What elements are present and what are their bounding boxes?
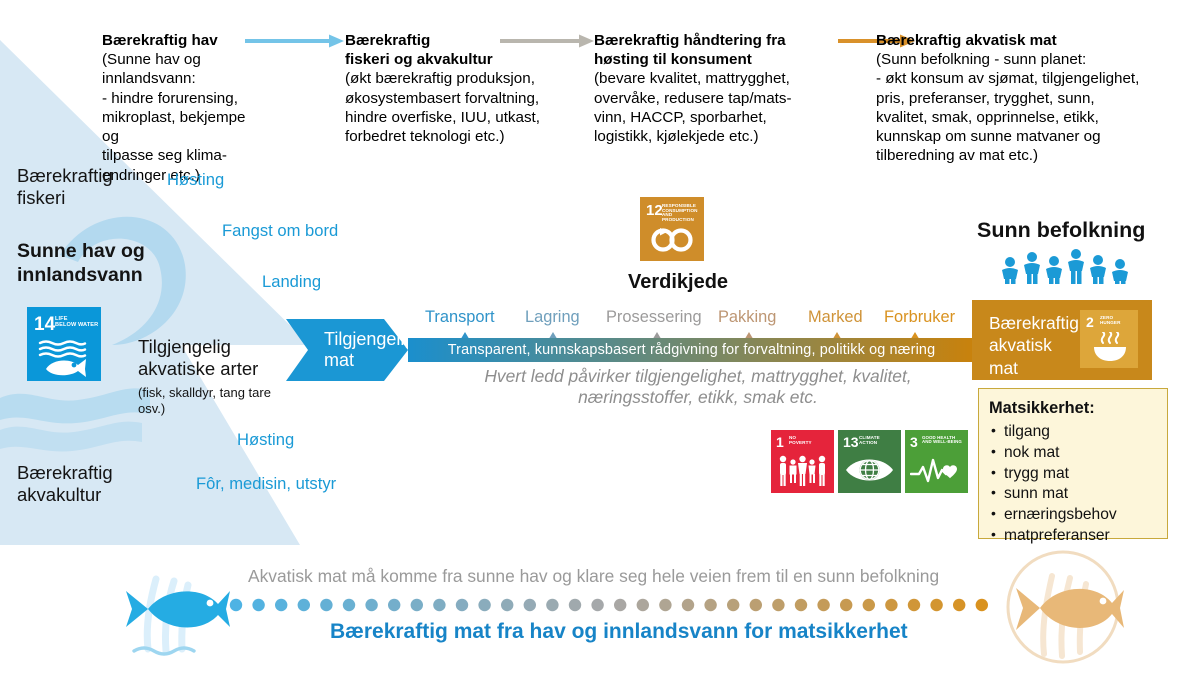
- label-hosting-top: Høsting: [167, 170, 224, 190]
- header-column-2-body: (økt bærekraftig produksjon, økosystemba…: [345, 69, 550, 146]
- sdg-1-number: 1: [776, 435, 784, 449]
- stage-label-pakking: Pakking: [718, 308, 776, 327]
- matsikkerhet-item: trygg mat: [989, 464, 1157, 485]
- matsikkerhet-item: sunn mat: [989, 484, 1157, 505]
- sdg-icon-2-zero-hunger: 2 ZERO HUNGER: [1080, 310, 1138, 368]
- header-column-3-body: (bevare kvalitet, mattrygghet, overvåke,…: [594, 69, 824, 146]
- bottom-dot-path: [228, 596, 1008, 614]
- header-column-1: Bærekraftig hav (Sunne hav og innlandsva…: [102, 31, 252, 185]
- header-column-4-title: Bærekraftig akvatisk mat: [876, 31, 1188, 50]
- sdg-icon-14-life-below-water: 14 LIFE BELOW WATER: [27, 307, 101, 381]
- sdg-2-glyph: [1090, 332, 1130, 362]
- sdg-13-caption: CLIMATE ACTION: [859, 436, 880, 445]
- sdg-13-number: 13: [843, 435, 859, 449]
- matsikkerhet-item: tilgang: [989, 422, 1157, 443]
- header-arrow-2: [500, 33, 595, 55]
- label-tilgjengelig-arter-sub: (fisk, skalldyr, tang tare osv.): [138, 385, 271, 417]
- header-column-4: Bærekraftig akvatisk mat (Sunn befolknin…: [876, 31, 1188, 166]
- people-icons: [996, 248, 1136, 284]
- value-chain-subtitle: Hvert ledd påvirker tilgjengelighet, mat…: [418, 366, 978, 409]
- matsikkerhet-title: Matsikkerhet:: [989, 399, 1157, 418]
- label-baerekraftig-fiskeri: Bærekraftig fiskeri: [17, 165, 113, 210]
- matsikkerhet-item: matpreferanser: [989, 526, 1157, 547]
- label-sunne-hav-innlandsvann: Sunne hav og innlandsvann: [17, 240, 145, 287]
- baerekraftig-akvatisk-mat-box: Bærekraftig akvatisk mat 2 ZERO HUNGER: [972, 300, 1152, 380]
- sdg-icon-12-responsible-consumption: 12 RESPONSIBLE CONSUMPTION AND PRODUCTIO…: [640, 197, 704, 261]
- header-column-3-title: Bærekraftig håndtering fra høsting til k…: [594, 31, 824, 69]
- tilgjengelig-mat-chevron: Tilgjengelig mat: [286, 319, 408, 381]
- sdg-icon-3-good-health: 3 GOOD HEALTH AND WELL-BEING: [905, 430, 968, 493]
- stage-label-prosessering: Prosessering: [606, 308, 702, 327]
- label-baerekraftig-akvakultur: Bærekraftig akvakultur: [17, 462, 113, 507]
- header-column-1-title: Bærekraftig hav: [102, 31, 252, 50]
- stage-label-marked: Marked: [808, 308, 863, 327]
- sunn-befolkning-title: Sunn befolkning: [977, 218, 1145, 243]
- header-column-1-body: (Sunne hav og innlandsvann: - hindre for…: [102, 50, 252, 185]
- label-for-medisin-utstyr: Fôr, medisin, utstyr: [196, 474, 336, 494]
- stage-label-forbruker: Forbruker: [884, 308, 955, 327]
- value-chain-bar-text: Transparent, kunnskapsbasert rådgivning …: [408, 338, 975, 362]
- sdg-14-caption: LIFE BELOW WATER: [55, 317, 98, 328]
- stage-label-transport: Transport: [425, 308, 495, 327]
- sdg-13-glyph: [844, 454, 895, 486]
- label-landing: Landing: [262, 272, 321, 292]
- matsikkerhet-list: tilgang nok mat trygg mat sunn mat ernær…: [989, 422, 1157, 547]
- sdg-icon-13-climate-action: 13 CLIMATE ACTION: [838, 430, 901, 493]
- sdg-12-glyph: [650, 225, 694, 255]
- header-column-3: Bærekraftig håndtering fra høsting til k…: [594, 31, 824, 146]
- tilgjengelig-mat-label: Tilgjengelig mat: [324, 329, 414, 371]
- gold-box-label: Bærekraftig akvatisk mat: [989, 312, 1079, 379]
- bottom-main-text: Bærekraftig mat fra hav og innlandsvann …: [330, 620, 908, 644]
- sdg-14-glyph: [36, 339, 92, 377]
- sdg-1-glyph: [777, 454, 828, 488]
- sdg-3-number: 3: [910, 435, 918, 449]
- sdg-3-caption: GOOD HEALTH AND WELL-BEING: [922, 436, 962, 445]
- label-hosting-bottom: Høsting: [237, 430, 294, 450]
- label-fangst-om-bord: Fangst om bord: [222, 221, 338, 241]
- verdikjede-heading: Verdikjede: [628, 271, 728, 294]
- sdg-3-glyph: [910, 456, 963, 486]
- label-tilgjengelig-arter-title: Tilgjengelig akvatiske arter: [138, 336, 258, 380]
- fish-icon-left: [118, 553, 238, 659]
- matsikkerhet-panel: Matsikkerhet: tilgang nok mat trygg mat …: [978, 388, 1168, 539]
- sdg-2-caption: ZERO HUNGER: [1100, 316, 1121, 325]
- sdg-2-number: 2: [1086, 315, 1094, 329]
- sdg-12-number: 12: [646, 203, 663, 218]
- header-column-4-body: (Sunn befolkning - sunn planet: - økt ko…: [876, 50, 1188, 165]
- sdg-1-caption: NO POVERTY: [789, 436, 812, 445]
- fish-icon-right: [1000, 550, 1130, 665]
- matsikkerhet-item: ernæringsbehov: [989, 505, 1157, 526]
- sdg-icon-1-no-poverty: 1 NO POVERTY: [771, 430, 834, 493]
- sdg-12-caption: RESPONSIBLE CONSUMPTION AND PRODUCTION: [662, 204, 704, 223]
- matsikkerhet-item: nok mat: [989, 443, 1157, 464]
- sdg-14-number: 14: [34, 315, 55, 334]
- bottom-top-text: Akvatisk mat må komme fra sunne hav og k…: [248, 566, 939, 587]
- stage-label-lagring: Lagring: [525, 308, 580, 327]
- header-arrow-1: [245, 33, 345, 55]
- infographic-canvas: Bærekraftig hav (Sunne hav og innlandsva…: [0, 0, 1200, 689]
- value-chain-bar: Transparent, kunnskapsbasert rådgivning …: [408, 338, 975, 362]
